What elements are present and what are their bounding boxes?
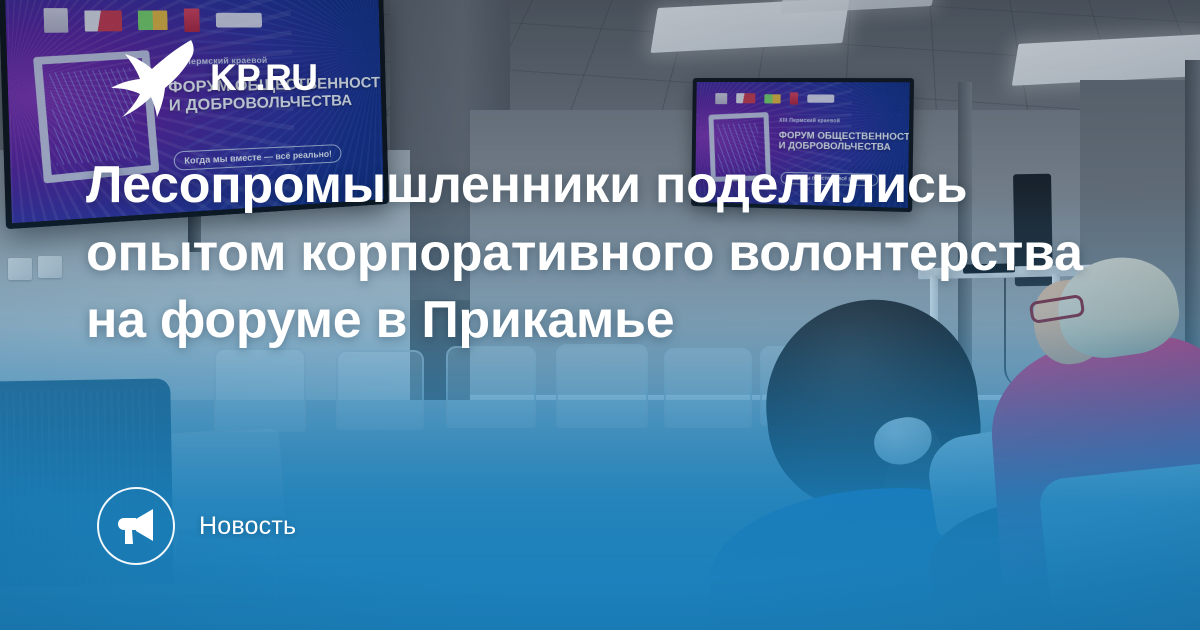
badge-label: Новость [199, 512, 296, 541]
swallow-bird-icon [94, 36, 212, 118]
megaphone-icon [114, 504, 158, 548]
badge-icon-circle [97, 487, 175, 565]
article-share-card: XIII Пермский краевой ФОРУМ ОБЩЕСТВЕННОС… [0, 0, 1200, 630]
status-badge[interactable]: Новость [97, 487, 296, 565]
brand-logo[interactable]: KP.RU [94, 36, 317, 118]
page-title: Лесопромышленники поделились опытом корп… [86, 152, 1096, 355]
brand-name: KP.RU [210, 59, 317, 96]
